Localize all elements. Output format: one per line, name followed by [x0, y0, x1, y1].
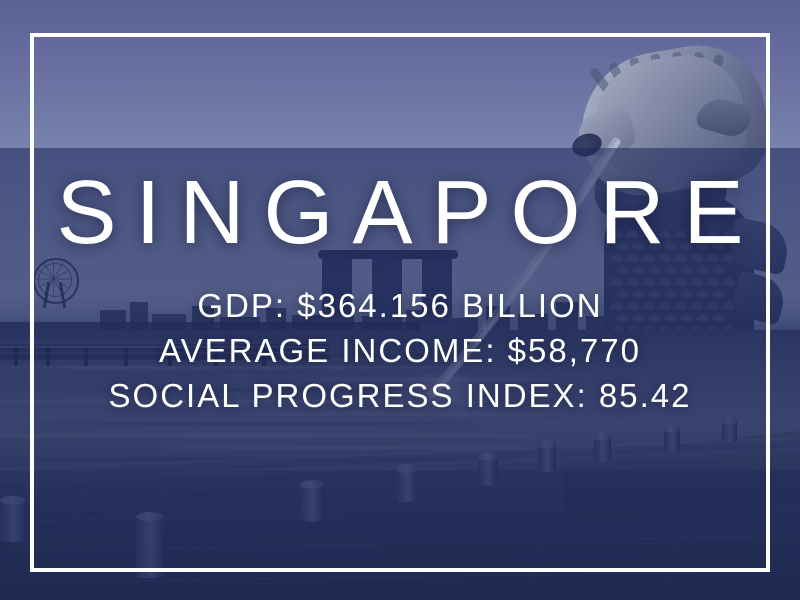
bollard — [0, 500, 26, 542]
background-photo — [0, 0, 800, 600]
bollard — [478, 456, 498, 486]
poster: SINGAPORE GDP: $364.156 BILLION AVERAGE … — [0, 0, 800, 600]
bollard — [538, 444, 556, 472]
bollard — [722, 420, 737, 442]
bollard — [594, 436, 611, 462]
bollard — [300, 484, 324, 522]
water-splash — [392, 372, 488, 414]
bollard — [136, 516, 164, 578]
bollard — [396, 468, 418, 502]
bollard — [664, 428, 680, 452]
singapore-flyer-icon — [33, 258, 77, 306]
